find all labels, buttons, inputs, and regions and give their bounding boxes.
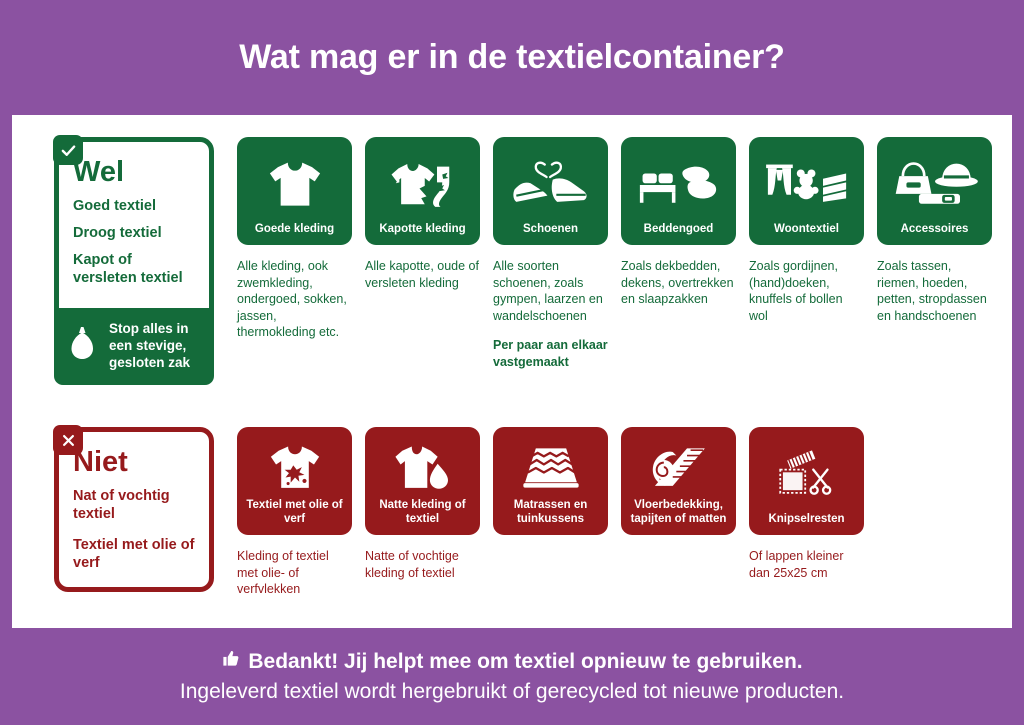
allowed-tiles: Goede kleding Alle kleding, ook zwemkled… — [237, 137, 992, 370]
not-allowed-section: Niet Nat of vochtig textiel Textiel met … — [12, 405, 1012, 628]
category-description: Alle soorten schoenen, zoals gympen, laa… — [493, 258, 608, 324]
category-label: Vloerbedekking, tapijten of matten — [621, 498, 736, 535]
category-description: Kleding of textiel met olie- of verfvlek… — [237, 548, 352, 598]
category-description: Alle kapotte, oude of versleten kleding — [365, 258, 480, 291]
footer-line-1-row: Bedankt! Jij helpt mee om textiel opnieu… — [221, 649, 802, 674]
not-allowed-line: Nat of vochtig textiel — [73, 487, 195, 523]
page-title: Wat mag er in de textielcontainer? — [239, 38, 785, 77]
allowed-callout: Wel Goed textiel Droog textiel Kapot of … — [54, 137, 214, 385]
not-allowed-category: Textiel met olie of verf Kleding of text… — [237, 427, 352, 598]
cross-icon — [53, 425, 83, 455]
carpet-roll-icon — [621, 438, 736, 498]
not-allowed-category: Matrassen en tuinkussens — [493, 427, 608, 598]
allowed-category: Goede kleding Alle kleding, ook zwemkled… — [237, 137, 352, 370]
category-tile[interactable]: Beddengoed — [621, 137, 736, 245]
category-tile[interactable]: Accessoires — [877, 137, 992, 245]
check-icon — [53, 135, 83, 165]
category-tile[interactable]: Vloerbedekking, tapijten of matten — [621, 427, 736, 535]
not-allowed-category: Knipselresten Of lappen kleiner dan 25x2… — [749, 427, 864, 598]
category-note: Per paar aan elkaar vastgemaakt — [493, 337, 608, 370]
category-label: Accessoires — [896, 222, 974, 245]
category-tile[interactable]: Knipselresten — [749, 427, 864, 535]
content-card: Wel Goed textiel Droog textiel Kapot of … — [12, 115, 1012, 628]
category-label: Textiel met olie of verf — [237, 498, 352, 535]
category-label: Woontextiel — [769, 222, 844, 245]
header: Wat mag er in de textielcontainer? — [0, 0, 1024, 115]
allowed-callout-body: Wel Goed textiel Droog textiel Kapot of … — [59, 142, 209, 302]
not-allowed-line: Textiel met olie of verf — [73, 536, 195, 572]
category-tile[interactable]: Kapotte kleding — [365, 137, 480, 245]
category-tile[interactable]: Goede kleding — [237, 137, 352, 245]
not-allowed-category: Natte kleding of textiel Natte of vochti… — [365, 427, 480, 598]
allowed-section: Wel Goed textiel Droog textiel Kapot of … — [12, 115, 1012, 400]
category-tile[interactable]: Matrassen en tuinkussens — [493, 427, 608, 535]
bag-instruction: Stop alles in een stevige, gesloten zak — [54, 308, 214, 386]
allowed-category: Schoenen Alle soorten schoenen, zoals gy… — [493, 137, 608, 370]
category-label: Kapotte kleding — [374, 222, 470, 245]
bag-instruction-text: Stop alles in een stevige, gesloten zak — [109, 320, 202, 372]
category-description: Alle kleding, ook zwemkleding, ondergoed… — [237, 258, 352, 341]
category-label: Knipselresten — [763, 512, 849, 535]
allowed-category: Beddengoed Zoals dekbedden, dekens, over… — [621, 137, 736, 370]
category-label: Matrassen en tuinkussens — [493, 498, 608, 535]
category-description: Zoals tassen, riemen, hoeden, petten, st… — [877, 258, 992, 324]
not-allowed-callout: Niet Nat of vochtig textiel Textiel met … — [54, 427, 214, 592]
allowed-heading: Wel — [73, 158, 195, 187]
curtain-teddy-towels-icon — [749, 148, 864, 222]
thumbs-up-icon — [221, 649, 240, 674]
category-label: Natte kleding of textiel — [365, 498, 480, 535]
shoes-icon — [493, 148, 608, 222]
allowed-line: Droog textiel — [73, 224, 195, 242]
infographic-page: Wat mag er in de textielcontainer? Wel G… — [0, 0, 1024, 725]
bag-hat-belt-icon — [877, 148, 992, 222]
category-description: Of lappen kleiner dan 25x25 cm — [749, 548, 864, 581]
footer-line-1: Bedankt! Jij helpt mee om textiel opnieu… — [248, 650, 802, 674]
category-label: Goede kleding — [250, 222, 339, 245]
allowed-line: Goed textiel — [73, 197, 195, 215]
category-label: Beddengoed — [639, 222, 719, 245]
tshirt-icon — [237, 148, 352, 222]
category-tile[interactable]: Woontextiel — [749, 137, 864, 245]
not-allowed-heading: Niet — [73, 448, 195, 477]
not-allowed-callout-body: Niet Nat of vochtig textiel Textiel met … — [59, 432, 209, 587]
not-allowed-tiles: Textiel met olie of verf Kleding of text… — [237, 427, 864, 598]
category-label: Schoenen — [518, 222, 583, 245]
footer: Bedankt! Jij helpt mee om textiel opnieu… — [0, 628, 1024, 725]
category-tile[interactable]: Schoenen — [493, 137, 608, 245]
category-tile[interactable]: Textiel met olie of verf — [237, 427, 352, 535]
allowed-category: Woontextiel Zoals gordijnen, (hand)doeke… — [749, 137, 864, 370]
scraps-scissors-icon — [749, 438, 864, 512]
torn-shirt-sock-icon — [365, 148, 480, 222]
allowed-category: Accessoires Zoals tassen, riemen, hoeden… — [877, 137, 992, 370]
allowed-line: Kapot of versleten textiel — [73, 251, 195, 287]
footer-line-2: Ingeleverd textiel wordt hergebruikt of … — [180, 680, 844, 704]
category-description: Zoals gordijnen, (hand)doeken, knuffels … — [749, 258, 864, 324]
category-tile[interactable]: Natte kleding of textiel — [365, 427, 480, 535]
not-allowed-category: Vloerbedekking, tapijten of matten — [621, 427, 736, 598]
category-description: Zoals dekbedden, dekens, overtrekken en … — [621, 258, 736, 308]
stained-shirt-icon — [237, 438, 352, 498]
bed-pillow-icon — [621, 148, 736, 222]
bag-icon — [68, 324, 98, 367]
allowed-category: Kapotte kleding Alle kapotte, oude of ve… — [365, 137, 480, 370]
category-description: Natte of vochtige kleding of textiel — [365, 548, 480, 581]
wet-shirt-droplet-icon — [365, 438, 480, 498]
mattress-icon — [493, 438, 608, 498]
